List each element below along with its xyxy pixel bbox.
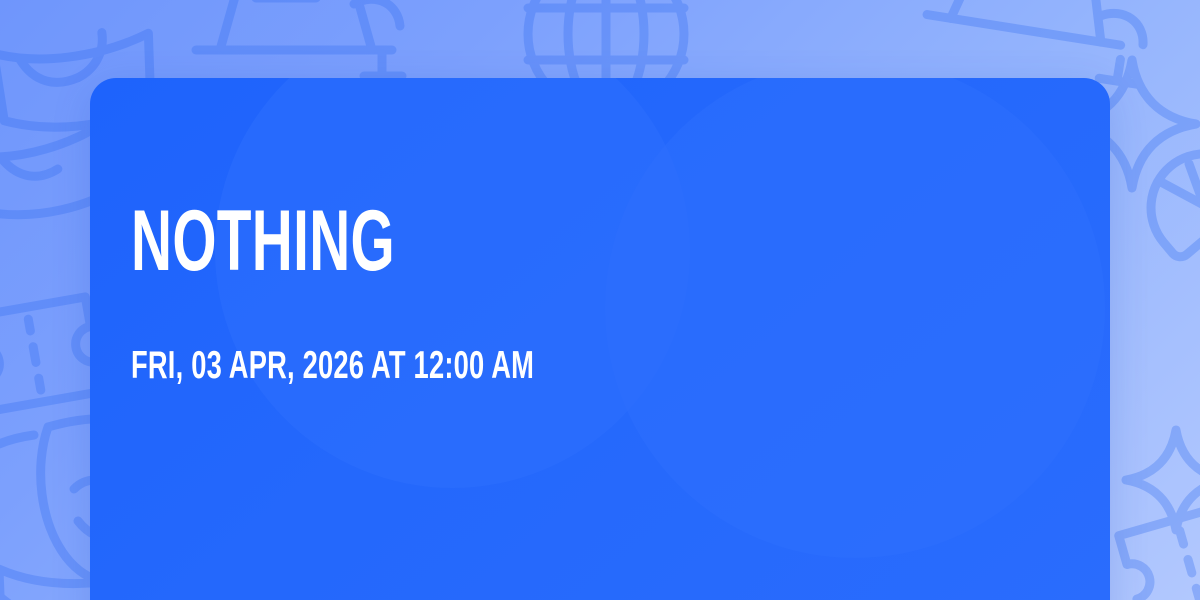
- event-title: NOTHING: [131, 202, 395, 281]
- event-card-content: NOTHING FRI, 03 APR, 2026 AT 12:00 AM: [131, 78, 1070, 600]
- podium-icon: [196, 0, 402, 76]
- event-card[interactable]: NOTHING FRI, 03 APR, 2026 AT 12:00 AM: [90, 78, 1110, 600]
- event-datetime: FRI, 03 APR, 2026 AT 12:00 AM: [131, 346, 534, 385]
- ticket-icon: [1119, 499, 1200, 600]
- podium-icon: [921, 0, 1152, 84]
- ticket-icon: [0, 297, 102, 411]
- event-card-screen: NOTHING FRI, 03 APR, 2026 AT 12:00 AM: [0, 0, 1200, 600]
